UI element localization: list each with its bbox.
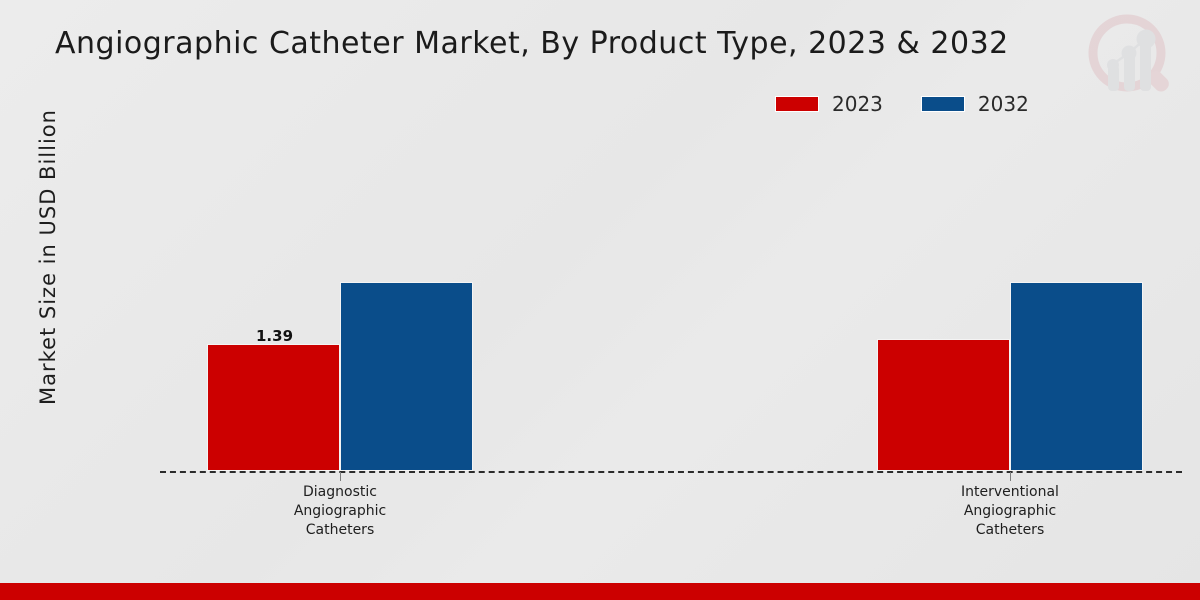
x-axis-label-interventional-line1: Interventional: [895, 483, 1125, 502]
x-axis-label-interventional-line3: Catheters: [895, 521, 1125, 540]
bar-2023-diagnostic[interactable]: [207, 344, 340, 471]
x-axis-label-interventional: Interventional Angiographic Catheters: [895, 483, 1125, 540]
x-axis-tick-diagnostic: [340, 472, 341, 481]
plot-area: 1.39 Diagnostic Angiographic Catheters I…: [0, 0, 1200, 600]
axis-baseline: [160, 471, 1182, 473]
x-axis-label-diagnostic-line1: Diagnostic: [225, 483, 455, 502]
bar-value-label-diagnostic-2023: 1.39: [256, 327, 293, 345]
bar-2032-diagnostic[interactable]: [340, 282, 473, 471]
bar-2023-interventional[interactable]: [877, 339, 1010, 471]
x-axis-tick-interventional: [1010, 472, 1011, 481]
x-axis-label-diagnostic-line3: Catheters: [225, 521, 455, 540]
x-axis-label-interventional-line2: Angiographic: [895, 502, 1125, 521]
footer-accent-bar: [0, 583, 1200, 600]
x-axis-label-diagnostic: Diagnostic Angiographic Catheters: [225, 483, 455, 540]
chart-canvas: Angiographic Catheter Market, By Product…: [0, 0, 1200, 600]
x-axis-label-diagnostic-line2: Angiographic: [225, 502, 455, 521]
bar-2032-interventional[interactable]: [1010, 282, 1143, 471]
